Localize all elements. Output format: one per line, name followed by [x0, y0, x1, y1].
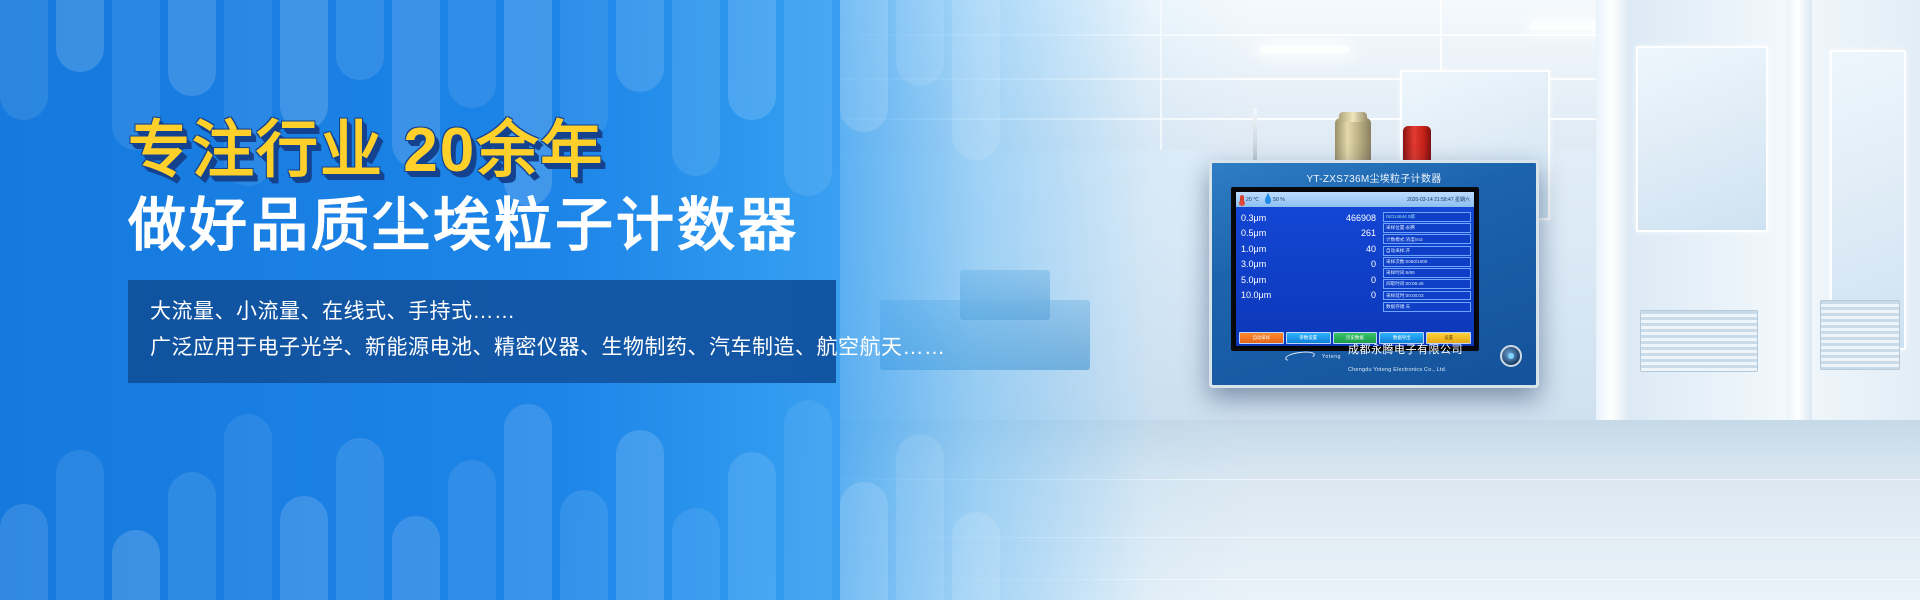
water-drop-icon	[1265, 196, 1271, 204]
wall-pillar	[1786, 0, 1812, 470]
power-indicator-icon[interactable]	[1500, 345, 1522, 367]
air-vent	[1640, 310, 1758, 372]
ceiling-lamp	[1260, 46, 1350, 53]
particle-row: 10.0μm 0	[1241, 288, 1379, 303]
parameter-item: 间歇时间:00:06:46	[1383, 279, 1471, 289]
device-branding: Yoteng 成都永腾电子有限公司 Chengdu Yoteng Electro…	[1212, 340, 1536, 376]
particle-row: 0.5μm 261	[1241, 226, 1379, 241]
headline-secondary: 做好品质尘埃粒子计数器	[128, 195, 888, 258]
particle-size: 5.0μm	[1241, 273, 1266, 288]
particle-size: 0.5μm	[1241, 226, 1266, 241]
device-model-label: YT-ZXS736M尘埃粒子计数器	[1212, 170, 1536, 185]
device-antenna	[1253, 108, 1257, 162]
thermometer-icon	[1240, 195, 1244, 204]
particle-counter-device: YT-ZXS736M尘埃粒子计数器 20 ℃ 50 % 2020-03-14 2…	[1209, 160, 1539, 388]
company-name-cn: 成都永腾电子有限公司	[1348, 344, 1463, 356]
parameter-item: 计数模式:浓度/m3	[1383, 234, 1471, 244]
promo-banner: 专注行业 20余年 做好品质尘埃粒子计数器 大流量、小流量、在线式、手持式…… …	[0, 0, 1920, 600]
company-name-en: Chengdu Yoteng Electronics Co., Ltd.	[1348, 367, 1447, 373]
air-vent	[1820, 300, 1900, 370]
parameter-panel: ISO14644 5级 采样位置:永腾 计数模式:浓度/m3 自动采样:开 采样…	[1383, 211, 1471, 346]
particle-count: 40	[1366, 242, 1376, 257]
humidity-readout: 50 %	[1265, 196, 1285, 204]
particle-size: 3.0μm	[1241, 257, 1266, 272]
wall-pillar	[1596, 0, 1630, 470]
screen-status-bar: 20 ℃ 50 % 2020-03-14 21:58:47 星期六	[1236, 192, 1474, 207]
parameter-item: 采样次数:0050/1000	[1383, 257, 1471, 267]
corridor-window	[1636, 46, 1768, 232]
particle-row: 1.0μm 40	[1241, 242, 1379, 257]
device-screen[interactable]: 20 ℃ 50 % 2020-03-14 21:58:47 星期六 0.3μm …	[1231, 187, 1479, 351]
parameter-item: 采样时间:6/60	[1383, 268, 1471, 278]
particle-count: 0	[1371, 273, 1376, 288]
particle-size: 1.0μm	[1241, 242, 1266, 257]
hero-copy: 专注行业 20余年 做好品质尘埃粒子计数器 大流量、小流量、在线式、手持式…… …	[128, 118, 888, 383]
device-brass-knob	[1335, 118, 1371, 162]
parameter-item: 采样延时:00:00:03	[1383, 291, 1471, 301]
particle-size: 10.0μm	[1241, 288, 1271, 303]
yoteng-logo-icon	[1285, 350, 1315, 366]
headline-primary: 专注行业 20余年	[128, 118, 888, 183]
parameter-item: ISO14644 5级	[1383, 212, 1471, 222]
logo-wordmark: Yoteng	[1322, 355, 1341, 361]
datetime-readout: 2020-03-14 21:58:47 星期六	[1407, 196, 1470, 203]
particle-row: 0.3μm 466908	[1241, 211, 1379, 226]
subtext-line-1: 大流量、小流量、在线式、手持式……	[150, 294, 814, 331]
subtext-panel: 大流量、小流量、在线式、手持式…… 广泛应用于电子光学、新能源电池、精密仪器、生…	[128, 280, 836, 384]
subtext-line-2: 广泛应用于电子光学、新能源电池、精密仪器、生物制药、汽车制造、航空航天……	[150, 330, 814, 367]
device-red-beacon-icon	[1403, 126, 1431, 162]
particle-count: 261	[1361, 226, 1376, 241]
parameter-item: 数据存储:天	[1383, 302, 1471, 312]
temperature-readout: 20 ℃	[1240, 195, 1259, 204]
particle-count: 0	[1371, 257, 1376, 272]
particle-row: 5.0μm 0	[1241, 273, 1379, 288]
particle-count: 466908	[1346, 211, 1376, 226]
particle-count-list: 0.3μm 466908 0.5μm 261 1.0μm 40 3.0μm	[1241, 211, 1379, 346]
particle-row: 3.0μm 0	[1241, 257, 1379, 272]
parameter-item: 采样位置:永腾	[1383, 223, 1471, 233]
parameter-item: 自动采样:开	[1383, 246, 1471, 256]
particle-size: 0.3μm	[1241, 211, 1266, 226]
particle-count: 0	[1371, 288, 1376, 303]
decorative-bars-bottom	[0, 385, 1020, 600]
